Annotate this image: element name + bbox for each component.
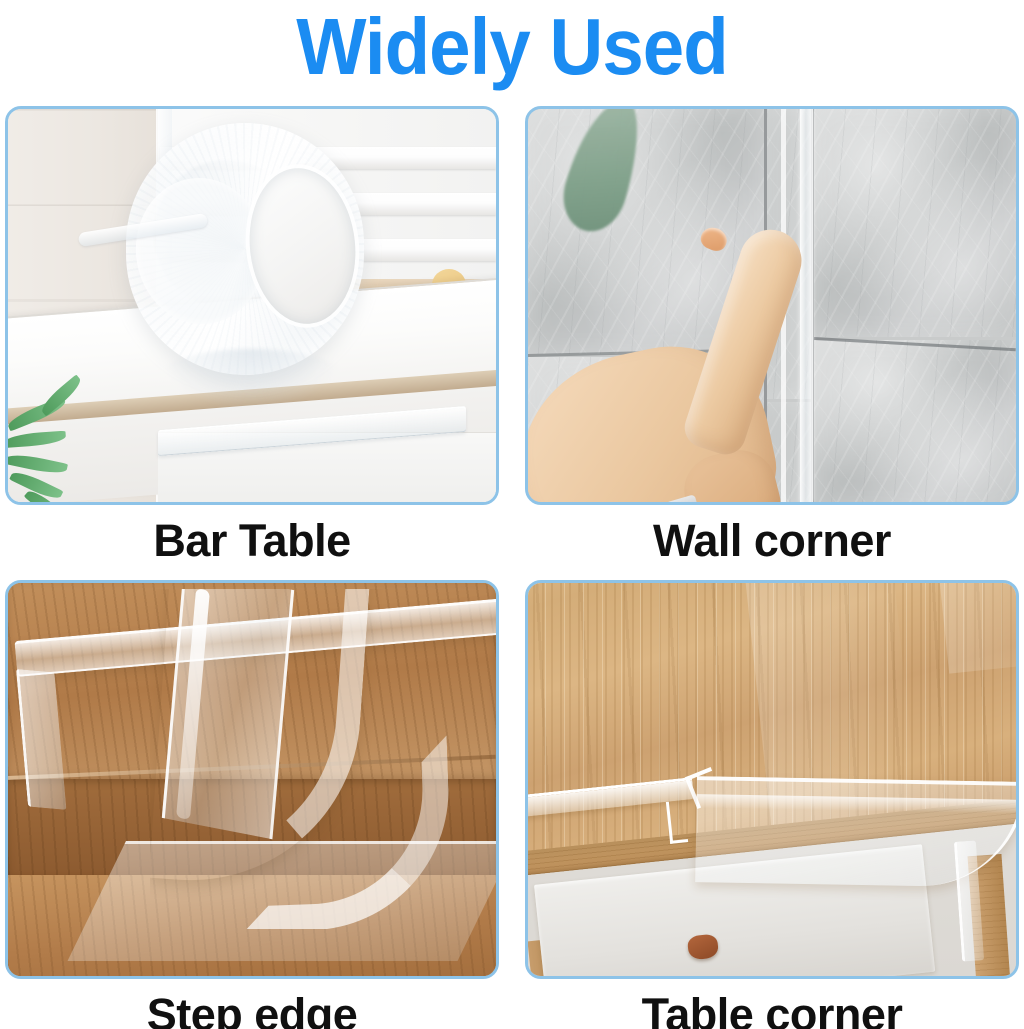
nano-tape-roll	[126, 123, 364, 375]
page-title: Widely Used	[36, 2, 988, 92]
photo-table-corner	[525, 580, 1019, 979]
panel-table-corner: Table corner	[525, 580, 1019, 1029]
panel-caption-wall-corner: Wall corner	[525, 505, 1019, 577]
plant-leaf	[5, 431, 66, 448]
index-finger	[680, 222, 810, 460]
tape-roll-reflection	[156, 349, 346, 411]
panel-caption-bar-table: Bar Table	[5, 505, 499, 577]
surface-sheen	[929, 580, 1019, 674]
hand-pointing	[538, 202, 838, 505]
panel-caption-table-corner: Table corner	[525, 979, 1019, 1029]
wall-tile	[814, 340, 1019, 505]
photo-wall-corner	[525, 106, 1019, 505]
infographic-page: Widely Used	[0, 0, 1024, 1029]
tape-curved-strip	[150, 589, 480, 929]
wall-tile	[814, 109, 1019, 337]
fern-plant	[5, 390, 122, 505]
tape-curl-bend	[237, 735, 454, 929]
corner-guard-highlight	[696, 794, 1019, 814]
photo-step-edge	[5, 580, 499, 979]
panel-grid: Bar Table	[0, 106, 1024, 1029]
panel-wall-corner: Wall corner	[525, 106, 1019, 577]
photo-bar-table	[5, 106, 499, 505]
panel-bar-table: Bar Table	[5, 106, 499, 577]
fingernail	[698, 224, 730, 254]
panel-caption-step-edge: Step edge	[5, 979, 499, 1029]
panel-step-edge: Step edge	[5, 580, 499, 1029]
